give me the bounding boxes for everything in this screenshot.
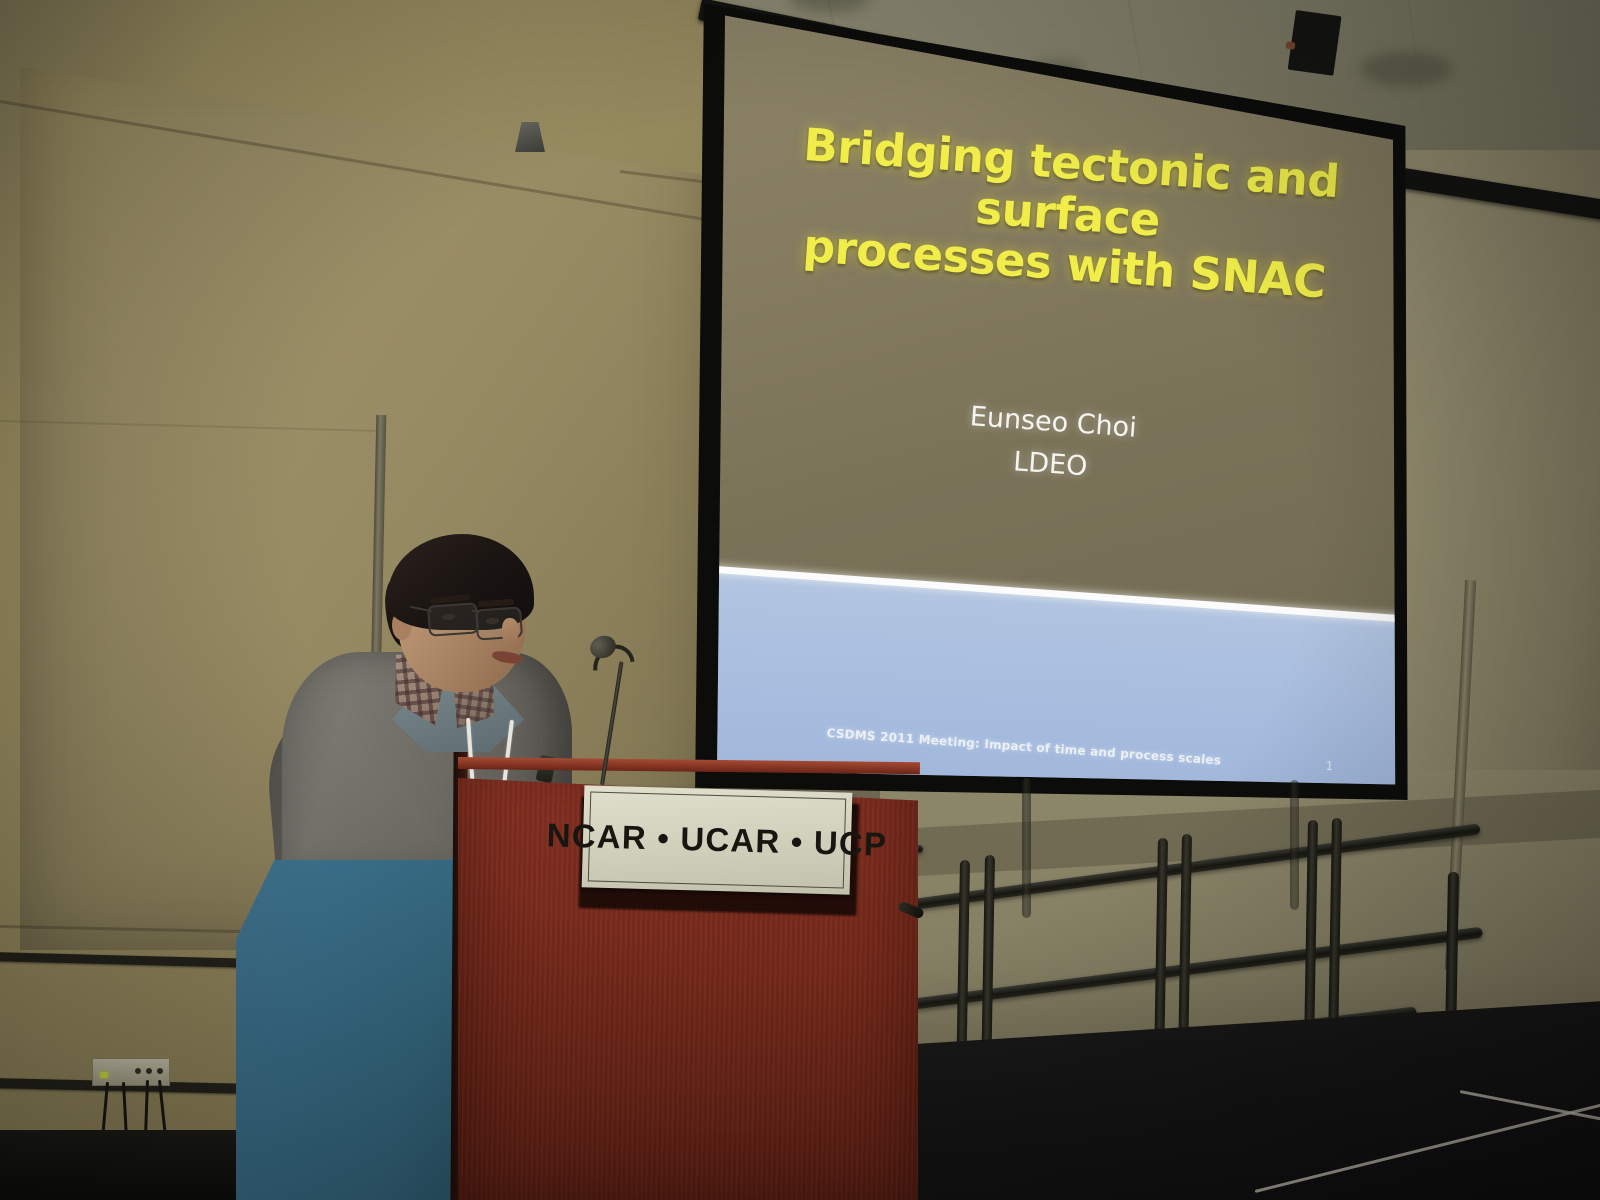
- slide-author-block: Eunseo Choi LDEO: [728, 380, 1375, 508]
- mount-screw-1: [1286, 41, 1296, 49]
- glasses-bridge: [472, 610, 480, 612]
- floor-left: [0, 1130, 250, 1200]
- glasses-lens-left-icon: [427, 602, 479, 636]
- outlet-jack-2: [146, 1068, 152, 1074]
- podium-sign: NCAR • UCAR • UCP: [582, 785, 853, 894]
- slide-page-number: 1: [1325, 759, 1334, 773]
- presentation-photo-scene: Bridging tectonic and surface processes …: [0, 0, 1600, 1200]
- outlet-jack-3: [157, 1068, 163, 1074]
- railing-wall-post-b: [1290, 780, 1299, 910]
- outlet-indicator-led: [100, 1072, 108, 1078]
- outlet-jack-1: [135, 1068, 141, 1074]
- screen-mount-bracket: [1288, 10, 1342, 76]
- slide-title: Bridging tectonic and surface processes …: [728, 115, 1409, 313]
- podium-side-panel[interactable]: [236, 860, 476, 1200]
- railing-wall-post-a: [1022, 778, 1031, 918]
